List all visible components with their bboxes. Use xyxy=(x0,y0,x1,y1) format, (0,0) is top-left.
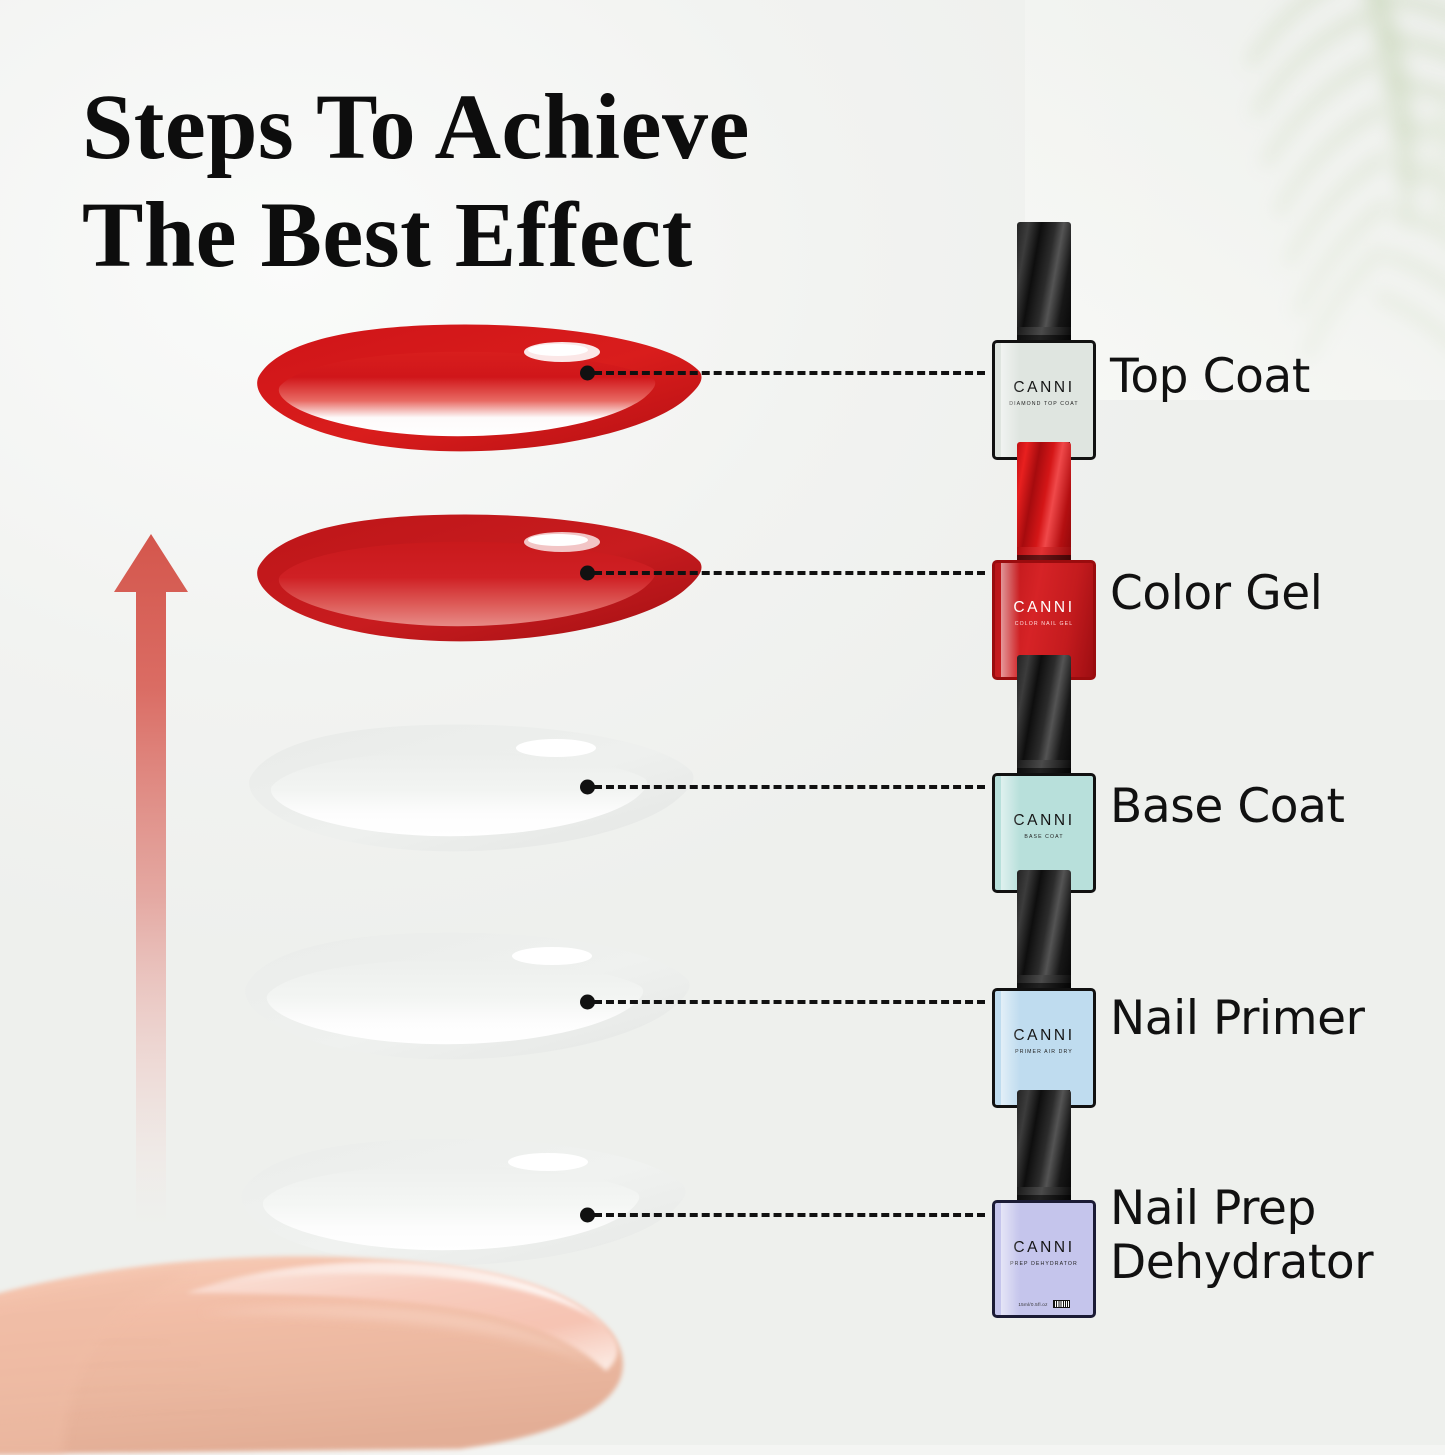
leader-dash xyxy=(594,371,985,375)
bottle-gloss xyxy=(1001,991,1021,1105)
bottle-cap xyxy=(1017,655,1071,773)
step-label-base-coat: Base Coat xyxy=(1110,780,1345,834)
page-title-line-1: Steps To Achieve xyxy=(82,76,750,179)
infographic-canvas: Steps To Achieve The Best Effect xyxy=(0,0,1445,1445)
bottle-gloss xyxy=(1001,1203,1021,1315)
step-label-nail-primer: Nail Primer xyxy=(1110,992,1365,1046)
bottle-brand: CANNI xyxy=(1013,1028,1074,1044)
leader-dot xyxy=(580,995,595,1010)
upward-arrow-icon xyxy=(108,530,194,1230)
leader-line-color-gel xyxy=(580,566,985,580)
bottle-gloss xyxy=(1001,343,1021,457)
bottle-top-coat[interactable]: CANNI DIAMOND TOP COAT 15ml/0.5fl.oz xyxy=(992,222,1096,460)
leader-dot xyxy=(580,780,595,795)
bottle-sublabel: PRIMER AIR DRY xyxy=(1015,1050,1073,1055)
bottle-brand: CANNI xyxy=(1013,813,1074,829)
step-label-top-coat: Top Coat xyxy=(1110,350,1310,404)
page-title: Steps To Achieve The Best Effect xyxy=(82,74,914,290)
leader-line-base-coat xyxy=(580,780,985,794)
bottle-footer: 15ml/0.5fl.oz xyxy=(995,1300,1093,1308)
step-label-nail-prep-dehydrator: Nail Prep Dehydrator xyxy=(1110,1182,1373,1289)
barcode-icon xyxy=(1053,1300,1070,1308)
page-title-line-2: The Best Effect xyxy=(82,182,914,290)
bottle-cap xyxy=(1017,222,1071,340)
bottle-cap xyxy=(1017,1090,1071,1200)
palm-frond-icon xyxy=(1045,0,1445,360)
bottle-cap xyxy=(1017,870,1071,988)
leader-line-top-coat xyxy=(580,366,985,380)
leader-dot xyxy=(580,1208,595,1223)
bottle-body: CANNI PREP DEHYDRATOR 15ml/0.5fl.oz xyxy=(992,1200,1096,1318)
bottle-color-gel[interactable]: CANNI COLOR NAIL GEL 9ml/0.3fl.oz xyxy=(992,442,1096,680)
leader-dash xyxy=(594,1000,985,1004)
drop-top-coat xyxy=(252,322,707,457)
leader-dash xyxy=(594,785,985,789)
bottle-nail-primer[interactable]: CANNI PRIMER AIR DRY 15ml/0.5fl.oz xyxy=(992,870,1096,1108)
bottle-nail-prep-dehydrator[interactable]: CANNI PREP DEHYDRATOR 15ml/0.5fl.oz xyxy=(992,1090,1096,1318)
bottle-brand: CANNI xyxy=(1013,600,1074,616)
leader-dash xyxy=(594,1213,985,1217)
drop-nail-prep-dehydrator xyxy=(236,1136,691,1271)
bottle-sublabel: DIAMOND TOP COAT xyxy=(1009,402,1078,407)
leader-line-nail-primer xyxy=(580,995,985,1009)
bottle-sublabel: BASE COAT xyxy=(1024,835,1063,840)
bottle-sublabel: PREP DEHYDRATOR xyxy=(1010,1262,1078,1267)
bottle-brand: CANNI xyxy=(1013,1240,1074,1256)
bottle-brand: CANNI xyxy=(1013,380,1074,396)
bottle-volume: 15ml/0.5fl.oz xyxy=(1018,1302,1047,1307)
bottle-cap xyxy=(1017,442,1071,560)
leader-line-nail-prep-dehydrator xyxy=(580,1208,985,1222)
step-label-color-gel: Color Gel xyxy=(1110,567,1322,621)
bottle-sublabel: COLOR NAIL GEL xyxy=(1015,622,1073,627)
bottle-base-coat[interactable]: CANNI BASE COAT 15ml/0.5fl.oz xyxy=(992,655,1096,893)
leader-dot xyxy=(580,366,595,381)
leader-dot xyxy=(580,566,595,581)
leader-dash xyxy=(594,571,985,575)
